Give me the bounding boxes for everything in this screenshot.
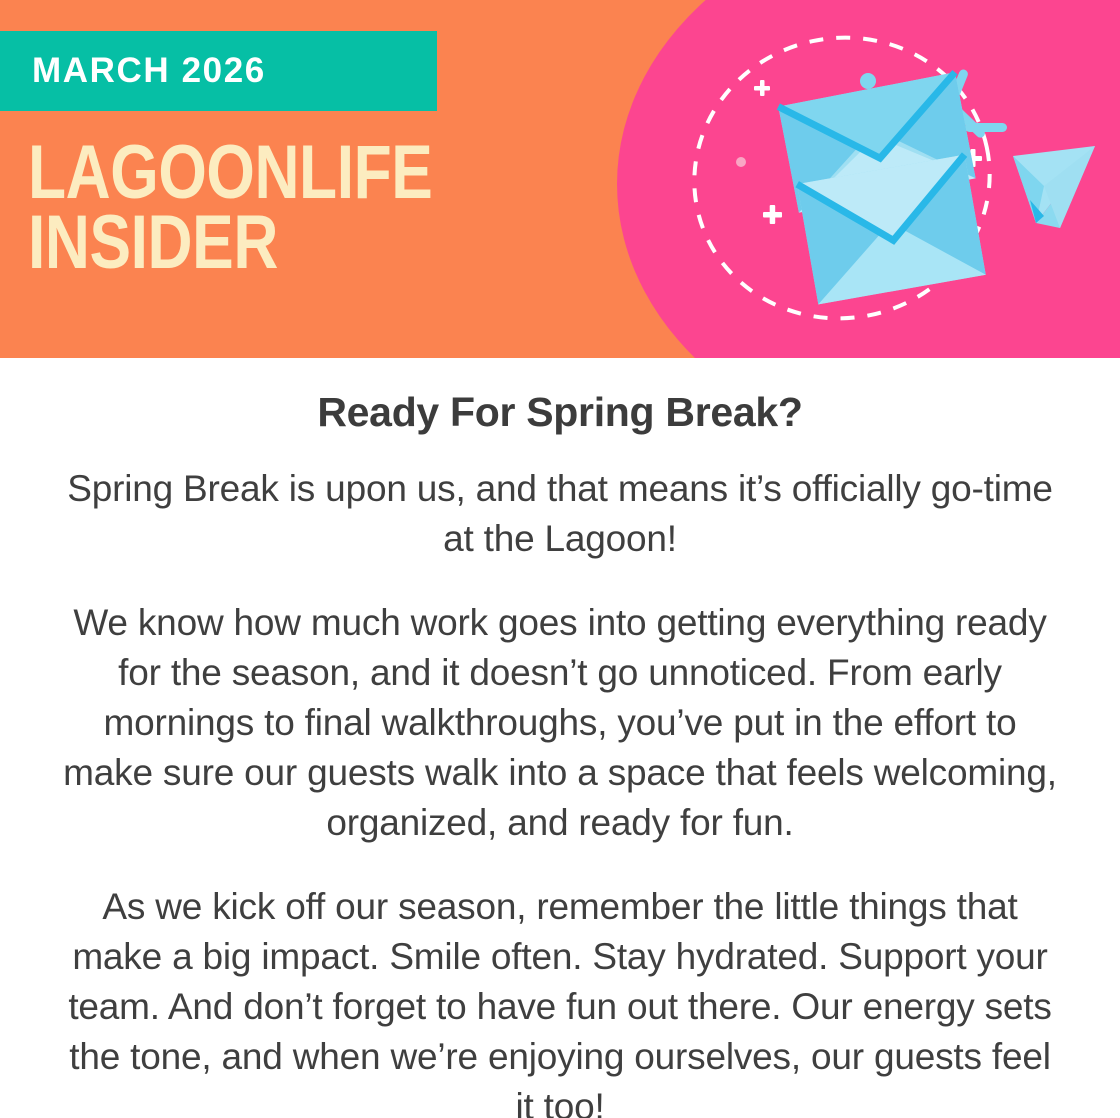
article-paragraph: Spring Break is upon us, and that means …	[56, 464, 1064, 564]
article-title: Ready For Spring Break?	[56, 386, 1064, 438]
newsletter-page: MARCH 2026 LAGOONLIFE INSIDER	[0, 0, 1120, 1118]
sparkle-dot-icon	[736, 157, 746, 167]
article-paragraph: As we kick off our season, remember the …	[56, 882, 1064, 1118]
month-badge: MARCH 2026	[0, 31, 437, 111]
article-paragraph: We know how much work goes into getting …	[56, 598, 1064, 848]
masthead-line-one: LAGOONLIFE	[28, 138, 487, 208]
newsletter-header: MARCH 2026 LAGOONLIFE INSIDER	[0, 0, 1120, 358]
month-badge-label: MARCH 2026	[32, 51, 266, 91]
sparkle-plus-icon	[754, 80, 770, 96]
paper-plane-icon	[1013, 146, 1095, 228]
sparkle-dot-icon	[860, 73, 876, 89]
masthead-line-two: INSIDER	[28, 208, 487, 278]
newsletter-body: Ready For Spring Break? Spring Break is …	[0, 358, 1120, 1118]
masthead: LAGOONLIFE INSIDER	[28, 138, 588, 278]
sparkle-plus-icon	[763, 205, 782, 224]
envelopes-and-paper-plane-illustration	[640, 0, 1120, 358]
